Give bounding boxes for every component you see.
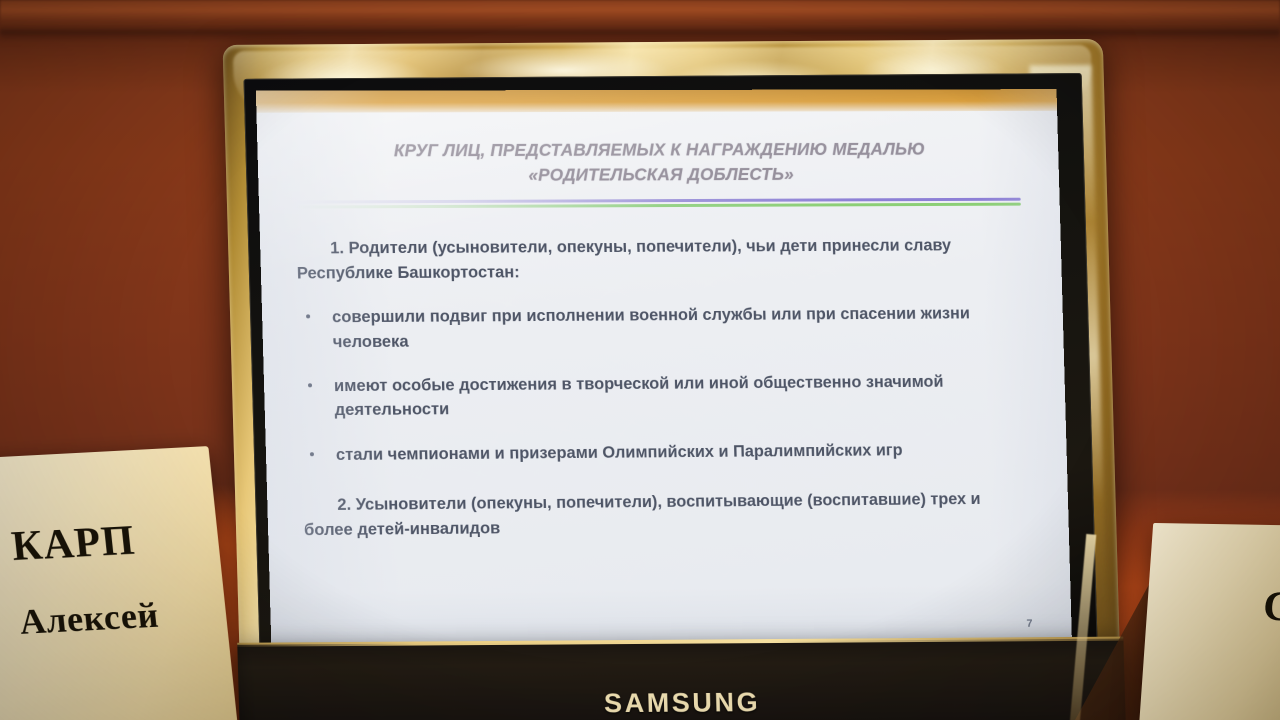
title-divider [295,198,1021,209]
placard-surname: КАРП [8,497,240,588]
name-placard-left: КАРП Алексей [0,446,240,720]
slide-title-line-2: «РОДИТЕЛЬСКАЯ ДОБЛЕСТЬ» [298,161,1020,188]
divider-line-purple [295,198,1021,203]
list-item: совершили подвиг при исполнении военной … [298,301,1031,354]
slide-body: 1. Родители (усыновители, опекуны, попеч… [294,234,1036,543]
slide-paragraph-2: 2. Усыновители (опекуны, попечители), во… [303,487,1030,542]
placard-left-text: КАРП Алексей [8,497,240,656]
list-item: имеют особые достижения в творческой или… [300,369,1033,423]
slide-title: КРУГ ЛИЦ, ПРЕДСТАВЛЯЕМЫХ К НАГРАЖДЕНИЮ М… [297,137,1020,188]
placard-given-name: Алексей [16,576,240,656]
monitor-screen[interactable]: КРУГ ЛИЦ, ПРЕДСТАВЛЯЕМЫХ К НАГРАЖДЕНИЮ М… [256,89,1072,660]
divider-line-green [295,203,1021,208]
samsung-wordmark: SAMSUNG [239,685,1126,720]
slide-paragraph-1: 1. Родители (усыновители, опекуны, попеч… [296,234,1023,286]
name-placard-right: С [1139,523,1280,720]
samsung-monitor: КРУГ ЛИЦ, ПРЕДСТАВЛЯЕМЫХ К НАГРАЖДЕНИЮ М… [162,25,1122,720]
list-item: стали чемпионами и призерами Олимпийских… [302,437,1034,467]
placard-right-text: С [1262,583,1280,631]
slide-number: 7 [1026,618,1032,630]
presentation-slide: КРУГ ЛИЦ, ПРЕДСТАВЛЯЕМЫХ К НАГРАЖДЕНИЮ М… [256,89,1072,660]
monitor-bottom-bezel: SAMSUNG [237,637,1126,720]
slide-bullet-list: совершили подвиг при исполнении военной … [298,301,1034,467]
conference-room-photo: КРУГ ЛИЦ, ПРЕДСТАВЛЯЕМЫХ К НАГРАЖДЕНИЮ М… [0,0,1280,720]
slide-title-line-1: КРУГ ЛИЦ, ПРЕДСТАВЛЯЕМЫХ К НАГРАЖДЕНИЮ М… [297,137,1019,164]
